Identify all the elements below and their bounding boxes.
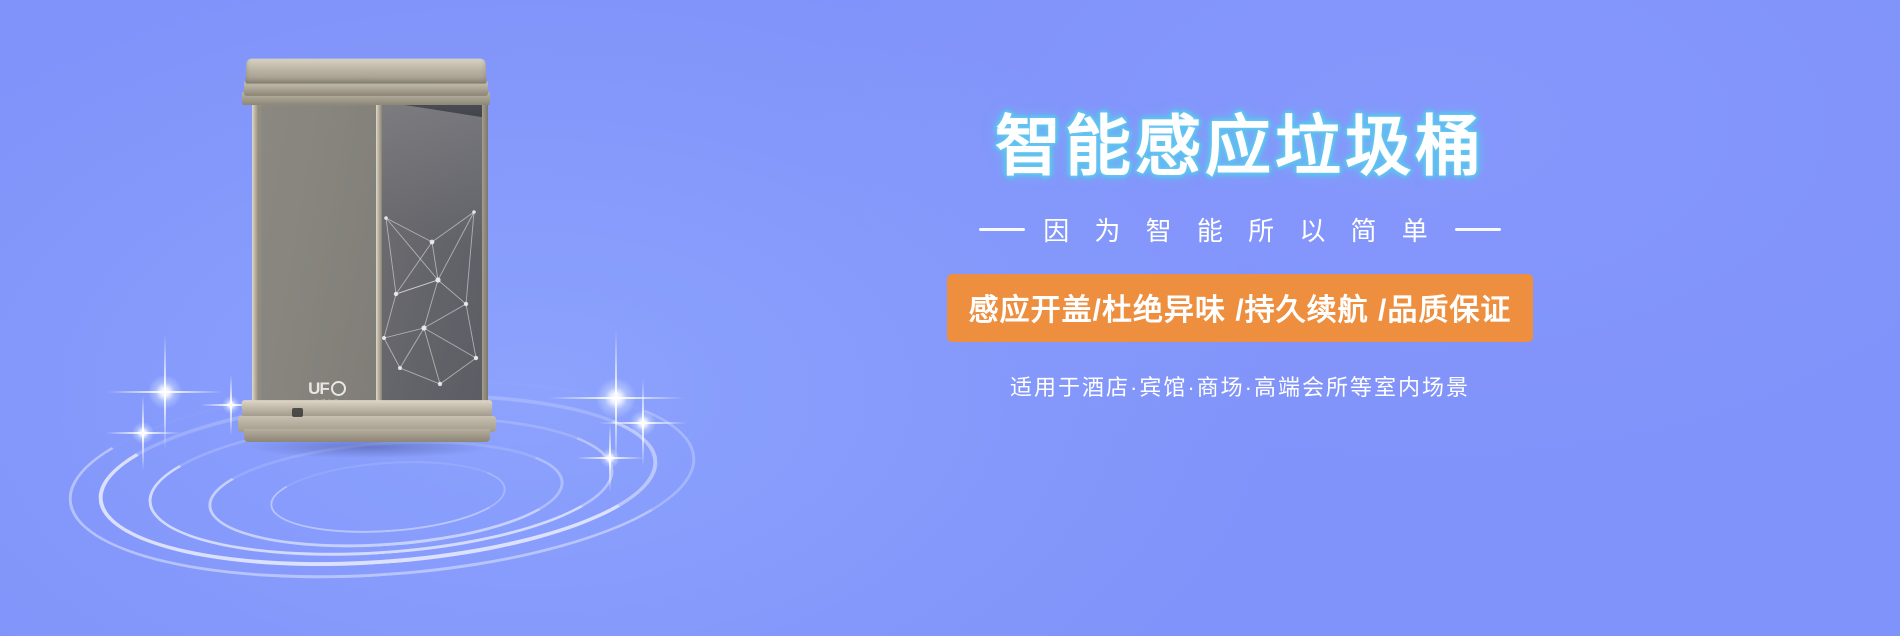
brand-wordmark: UF — [290, 380, 364, 397]
brand-wordmark-text: UF — [308, 380, 329, 397]
banner-tagline-row: 因 为 智 能 所 以 简 单 — [880, 211, 1600, 248]
circle-o-logo-icon — [331, 381, 346, 396]
polygon-network-graphic — [380, 208, 490, 398]
banner-tagline: 因 为 智 能 所 以 简 单 — [1043, 211, 1437, 248]
smart-trash-bin: UF 优福优品 智能感应垃圾桶品牌制造商 — [236, 58, 496, 418]
banner-copy: 智能感应垃圾桶 因 为 智 能 所 以 简 单 感应开盖/杜绝异味 /持久续航 … — [880, 110, 1600, 402]
bin-edge-left — [252, 100, 259, 412]
bin-lid-top — [245, 59, 486, 84]
bin-base-lower — [244, 429, 490, 442]
feature-badge: 感应开盖/杜绝异味 /持久续航 /品质保证 — [947, 274, 1534, 342]
banner-title: 智能感应垃圾桶 — [880, 110, 1600, 183]
bin-sensor-slot — [292, 408, 303, 417]
bin-face-left — [258, 104, 380, 404]
bin-edge-middle — [376, 100, 382, 412]
product-image: UF 优福优品 智能感应垃圾桶品牌制造商 — [0, 0, 760, 636]
tagline-rule-right — [1455, 228, 1501, 231]
product-banner: UF 优福优品 智能感应垃圾桶品牌制造商 智能感应垃圾桶 因 为 智 能 — [0, 0, 1900, 636]
bin-edge-right — [482, 100, 488, 412]
banner-footnote: 适用于酒店·宾馆·商场·高端会所等室内场景 — [880, 370, 1600, 402]
tagline-rule-left — [979, 228, 1025, 231]
